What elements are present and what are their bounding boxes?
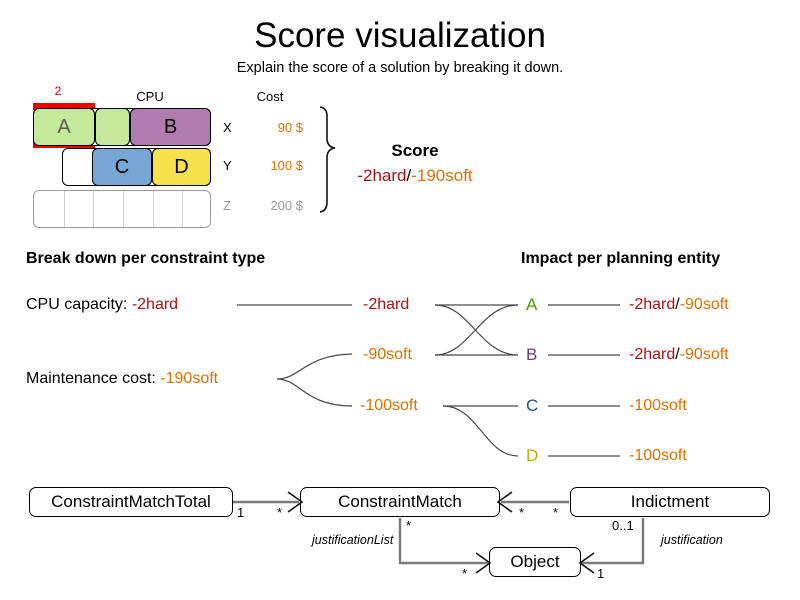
entity-impact-b-soft: -90soft bbox=[680, 346, 729, 363]
uml-mult-cm-obj-bottom-star: * bbox=[462, 566, 467, 581]
constraint-maintenance-cost[interactable]: Maintenance cost: -190soft bbox=[26, 370, 218, 388]
line-2hard-to-b bbox=[435, 305, 518, 355]
score-value: -2hard/-190soft bbox=[305, 166, 525, 186]
entity-letter-c[interactable]: C bbox=[526, 396, 538, 416]
entity-impact-c: -100soft bbox=[629, 397, 687, 415]
uml-arrow-cm-right bbox=[498, 492, 512, 512]
uml-box-indictment[interactable]: Indictment bbox=[570, 487, 770, 517]
constraint-cpu-capacity-score: -2hard bbox=[132, 296, 178, 313]
line-maintenance-to-90soft bbox=[277, 354, 352, 379]
match-score-100soft[interactable]: -100soft bbox=[360, 397, 418, 415]
process-a[interactable]: A bbox=[33, 108, 95, 146]
entity-impact-b-hard: -2hard bbox=[629, 346, 675, 363]
machine-name-y: Y bbox=[223, 158, 232, 173]
line-90soft-to-a bbox=[435, 305, 518, 355]
uml-mult-ind-cm-right-star: * bbox=[553, 505, 558, 520]
constraint-maintenance-cost-label: Maintenance cost: bbox=[26, 370, 160, 387]
machine-cost-y: 100 $ bbox=[245, 158, 303, 173]
machine-name-z: Z bbox=[223, 198, 231, 213]
grid-cell bbox=[64, 191, 65, 227]
uml-mult-cm-obj-top-star: * bbox=[406, 518, 411, 533]
heading-impact-per-planning-entity: Impact per planning entity bbox=[521, 250, 720, 268]
entity-letter-b[interactable]: B bbox=[526, 345, 537, 365]
score-hard: -2hard bbox=[357, 166, 406, 185]
entity-letter-d[interactable]: D bbox=[526, 446, 538, 466]
entity-impact-a: -2hard/-90soft bbox=[629, 296, 729, 314]
constraint-cpu-capacity[interactable]: CPU capacity: -2hard bbox=[26, 296, 178, 314]
uml-box-object-label: Object bbox=[510, 552, 559, 572]
match-score-2hard[interactable]: -2hard bbox=[363, 296, 409, 314]
line-maintenance-to-100soft bbox=[277, 379, 352, 406]
grid-cell bbox=[153, 191, 154, 227]
uml-role-justification: justification bbox=[661, 533, 723, 547]
constraint-maintenance-cost-score: -190soft bbox=[160, 370, 218, 387]
entity-impact-a-soft: -90soft bbox=[680, 296, 729, 313]
grid-cell bbox=[182, 191, 183, 227]
uml-box-constraint-match[interactable]: ConstraintMatch bbox=[300, 487, 500, 517]
cost-column-header: Cost bbox=[230, 89, 310, 104]
cpu-column-header: CPU bbox=[110, 89, 190, 104]
page-title: Score visualization bbox=[0, 16, 800, 56]
process-b[interactable]: B bbox=[130, 108, 211, 146]
uml-box-indictment-label: Indictment bbox=[631, 492, 709, 512]
page-subtitle: Explain the score of a solution by break… bbox=[0, 60, 800, 76]
entity-impact-b: -2hard/-90soft bbox=[629, 346, 729, 364]
process-c[interactable]: C bbox=[92, 148, 152, 186]
score-title: Score bbox=[330, 141, 500, 161]
uml-box-constraint-match-total[interactable]: ConstraintMatchTotal bbox=[29, 487, 233, 517]
process-a-label: A bbox=[57, 117, 70, 137]
entity-letter-a[interactable]: A bbox=[526, 295, 537, 315]
uml-mult-ind-obj-bottom: 1 bbox=[597, 566, 604, 581]
process-b-label: B bbox=[164, 117, 177, 137]
machine-cost-x: 90 $ bbox=[245, 120, 303, 135]
uml-arrow-object-right bbox=[580, 553, 594, 573]
uml-role-justification-list: justificationList bbox=[312, 533, 393, 547]
grid-cell bbox=[93, 191, 94, 227]
match-score-90soft[interactable]: -90soft bbox=[363, 346, 412, 364]
score-soft: -190soft bbox=[411, 166, 472, 185]
uml-mult-cmt-1: 1 bbox=[237, 505, 244, 520]
process-unnamed[interactable] bbox=[95, 108, 130, 146]
grid-cell bbox=[123, 191, 124, 227]
uml-arrow-object-left bbox=[476, 553, 490, 573]
uml-line-cm-to-object bbox=[400, 518, 488, 563]
process-d[interactable]: D bbox=[152, 148, 211, 186]
process-c-label: C bbox=[115, 157, 129, 177]
machine-track-z bbox=[33, 190, 211, 228]
machine-name-x: X bbox=[223, 120, 232, 135]
process-d-label: D bbox=[174, 157, 188, 177]
line-100soft-to-d bbox=[443, 406, 518, 456]
uml-mult-ind-cm-left-star: * bbox=[519, 505, 524, 520]
entity-impact-d: -100soft bbox=[629, 447, 687, 465]
uml-box-object[interactable]: Object bbox=[489, 547, 581, 577]
uml-mult-ind-obj-top: 0..1 bbox=[612, 518, 634, 533]
capacity-badge: 2 bbox=[33, 84, 83, 98]
machine-cost-z: 200 $ bbox=[245, 198, 303, 213]
heading-break-down-per-constraint-type: Break down per constraint type bbox=[26, 250, 265, 268]
entity-impact-a-hard: -2hard bbox=[629, 296, 675, 313]
uml-box-constraint-match-total-label: ConstraintMatchTotal bbox=[51, 492, 211, 512]
constraint-cpu-capacity-label: CPU capacity: bbox=[26, 296, 132, 313]
uml-box-constraint-match-label: ConstraintMatch bbox=[338, 492, 462, 512]
uml-mult-cmt-star: * bbox=[277, 505, 282, 520]
